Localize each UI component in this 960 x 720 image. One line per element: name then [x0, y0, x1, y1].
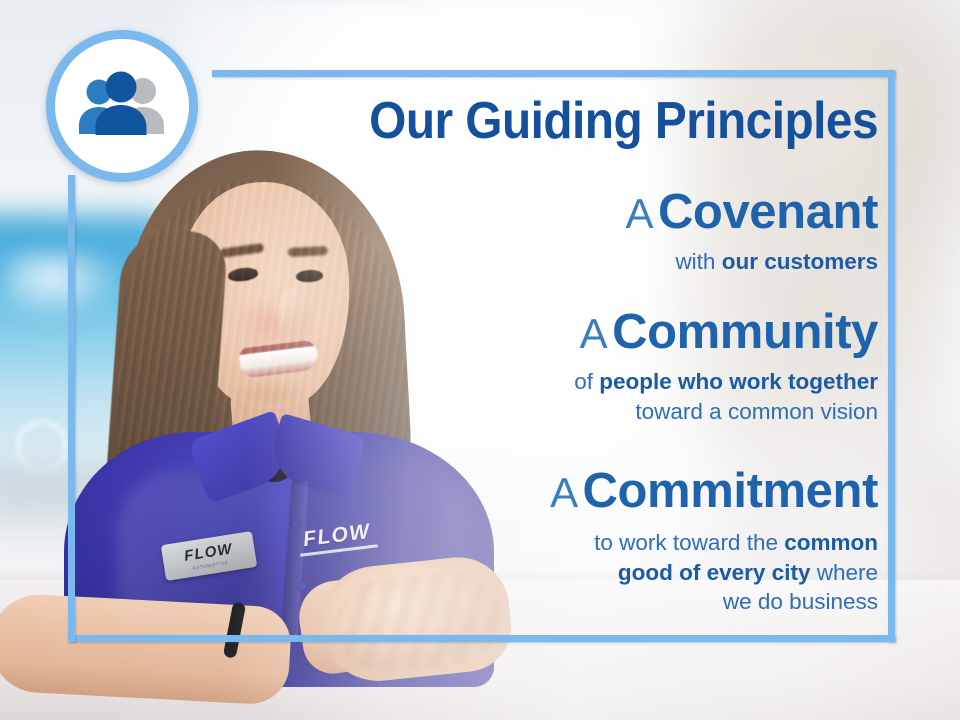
shirt-button — [298, 582, 306, 590]
shirt-button — [292, 520, 300, 528]
banner-canvas: FLOW AUTOMOTIVE FLOW — [0, 0, 960, 720]
people-badge — [46, 30, 198, 182]
arm-left — [0, 592, 292, 706]
people-group-icon — [74, 71, 170, 141]
